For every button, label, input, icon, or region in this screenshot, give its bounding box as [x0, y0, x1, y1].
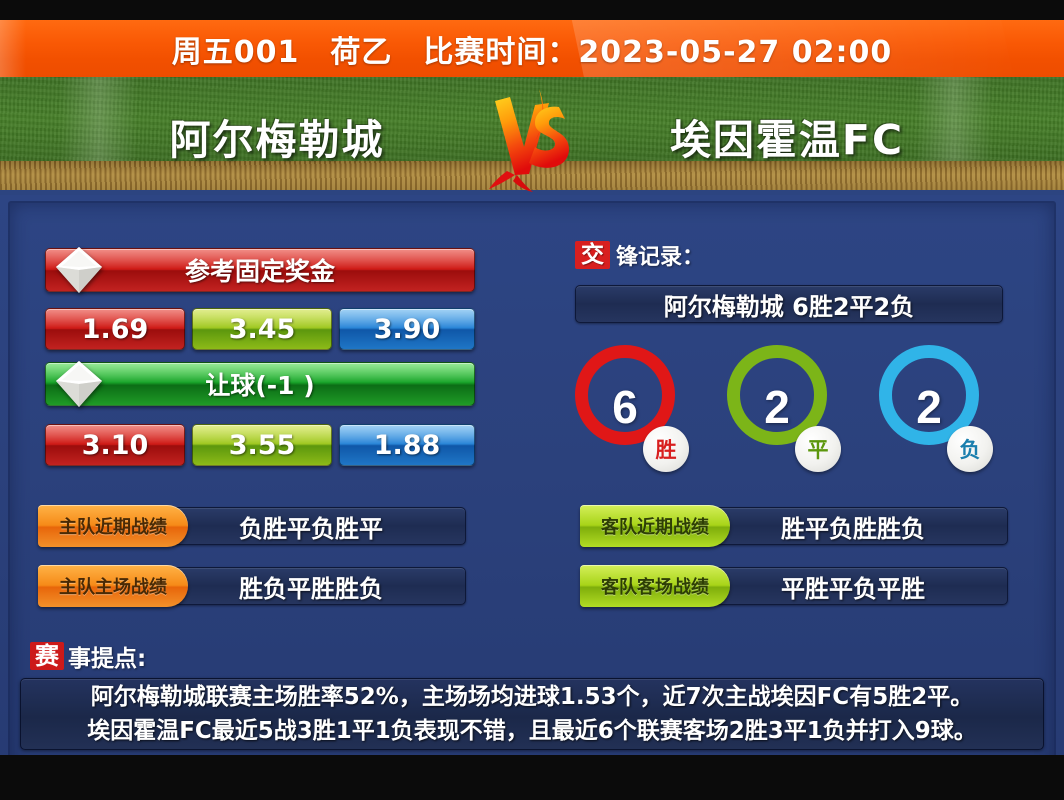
- match-header-title: 周五001 荷乙 比赛时间：2023-05-27 02:00: [0, 20, 1064, 77]
- team-banner: 阿尔梅勒城: [0, 77, 1064, 195]
- vs-icon: [477, 79, 587, 194]
- h2h-tag-badge: 交: [575, 241, 610, 269]
- h2h-summary-bar: 阿尔梅勒城 6胜2平2负: [575, 285, 1003, 323]
- tips-heading-label: 事提点:: [68, 639, 146, 673]
- h2h-heading: 交 锋记录：: [575, 240, 704, 270]
- top-padding: [0, 0, 1064, 20]
- odds-fixed-home-value: 1.69: [82, 314, 149, 345]
- ring-win-value: 6: [612, 379, 638, 433]
- odds-fixed-away-value: 3.90: [374, 314, 441, 345]
- ring-draw-badge: 平: [795, 426, 841, 472]
- odds-handicap-home-value: 3.10: [82, 430, 149, 461]
- ring-win-badge: 胜: [643, 426, 689, 472]
- tips-heading: 赛 事提点:: [30, 640, 146, 672]
- away-away-record-label: 客队客场战绩: [580, 565, 730, 607]
- h2h-heading-label: 锋记录：: [616, 239, 704, 271]
- odds-handicap-draw-value: 3.55: [229, 430, 296, 461]
- odds-fixed-draw-value: 3.45: [229, 314, 296, 345]
- ring-loss-badge: 负: [947, 426, 993, 472]
- tips-line-2: 埃因霍温FC最近5战3胜1平1负表现不错，且最近6个联赛客场2胜3平1负并打入9…: [87, 714, 977, 748]
- home-recent-record-row: 负胜平负胜平 主队近期战绩: [38, 505, 478, 547]
- odds-fixed-away[interactable]: 3.90: [339, 308, 475, 350]
- odds-handicap-draw[interactable]: 3.55: [192, 424, 332, 466]
- match-header-bar: 周五001 荷乙 比赛时间：2023-05-27 02:00: [0, 20, 1064, 77]
- tips-line-1: 阿尔梅勒城联赛主场胜率52%，主场场均进球1.53个，近7次主战埃因FC有5胜2…: [91, 680, 973, 714]
- away-away-record-row: 平胜平负平胜 客队客场战绩: [580, 565, 1020, 607]
- ring-win: 6 胜: [575, 345, 685, 470]
- ring-loss: 2 负: [879, 345, 989, 470]
- handicap-title-bar: 让球(-1 ): [45, 362, 475, 406]
- odds-fixed-draw[interactable]: 3.45: [192, 308, 332, 350]
- away-team-name: 埃因霍温FC: [587, 106, 987, 166]
- home-recent-record-label: 主队近期战绩: [38, 505, 188, 547]
- handicap-title-label: 让球(-1 ): [205, 366, 314, 402]
- odds-title-label: 参考固定奖金: [185, 252, 335, 288]
- home-home-record-value: 胜负平胜胜负: [156, 567, 466, 605]
- tips-box: 阿尔梅勒城联赛主场胜率52%，主场场均进球1.53个，近7次主战埃因FC有5胜2…: [20, 678, 1044, 750]
- home-home-record-row: 胜负平胜胜负 主队主场战绩: [38, 565, 478, 607]
- odds-title-bar: 参考固定奖金: [45, 248, 475, 292]
- tips-tag-badge: 赛: [30, 642, 64, 670]
- h2h-rings: 6 胜 2 平 2 负: [575, 340, 1005, 480]
- odds-handicap-away-value: 1.88: [374, 430, 441, 461]
- match-preview-page: 周五001 荷乙 比赛时间：2023-05-27 02:00 阿尔梅勒城: [0, 0, 1064, 800]
- odds-handicap-home[interactable]: 3.10: [45, 424, 185, 466]
- away-recent-record-value: 胜平负胜胜负: [698, 507, 1008, 545]
- home-home-record-label: 主队主场战绩: [38, 565, 188, 607]
- ring-draw-value: 2: [764, 379, 790, 433]
- team-row: 阿尔梅勒城: [0, 77, 1064, 195]
- home-team-name: 阿尔梅勒城: [77, 106, 477, 166]
- away-away-record-value: 平胜平负平胜: [698, 567, 1008, 605]
- odds-fixed-home[interactable]: 1.69: [45, 308, 185, 350]
- ring-draw: 2 平: [727, 345, 837, 470]
- h2h-summary-text: 阿尔梅勒城 6胜2平2负: [664, 287, 914, 322]
- home-recent-record-value: 负胜平负胜平: [156, 507, 466, 545]
- away-recent-record-row: 胜平负胜胜负 客队近期战绩: [580, 505, 1020, 547]
- away-recent-record-label: 客队近期战绩: [580, 505, 730, 547]
- ring-loss-value: 2: [916, 379, 942, 433]
- bottom-padding: [0, 755, 1064, 800]
- odds-handicap-away[interactable]: 1.88: [339, 424, 475, 466]
